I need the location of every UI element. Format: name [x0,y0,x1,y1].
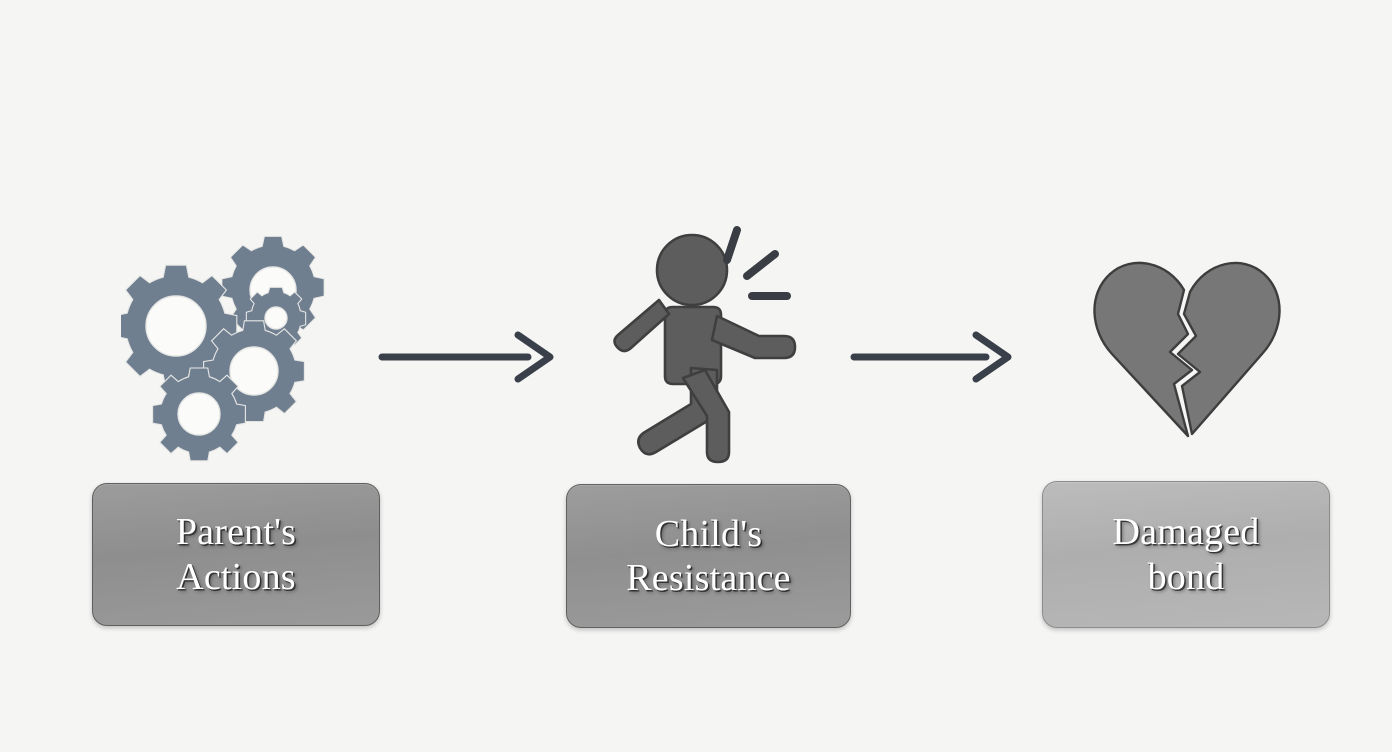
stage-childs-resistance: Child's Resistance [566,0,851,752]
stage-damaged-bond: Damaged bond [1042,0,1330,752]
running-person-icon [609,208,809,468]
label-box-damaged-bond[interactable]: Damaged bond [1042,481,1330,628]
emphasis-lines [727,230,787,296]
label-box-parents-actions[interactable]: Parent's Actions [92,483,380,626]
arrow-right-icon [850,330,1016,384]
stage-parents-actions: Parent's Actions [92,0,380,752]
label-box-childs-resistance[interactable]: Child's Resistance [566,484,851,628]
broken-heart-icon [1088,248,1284,448]
arrow-right-icon [378,330,558,384]
running-person-icon-area [566,190,851,460]
diagram-canvas: Parent's Actions [0,0,1392,752]
gears-icon-area [92,190,380,460]
label-box-damaged-bond-text: Damaged bond [1113,510,1260,598]
broken-heart-icon-area [1042,190,1330,460]
label-box-parents-actions-text: Parent's Actions [176,510,296,598]
label-box-childs-resistance-text: Child's Resistance [626,512,791,600]
gears-icon [121,196,351,466]
